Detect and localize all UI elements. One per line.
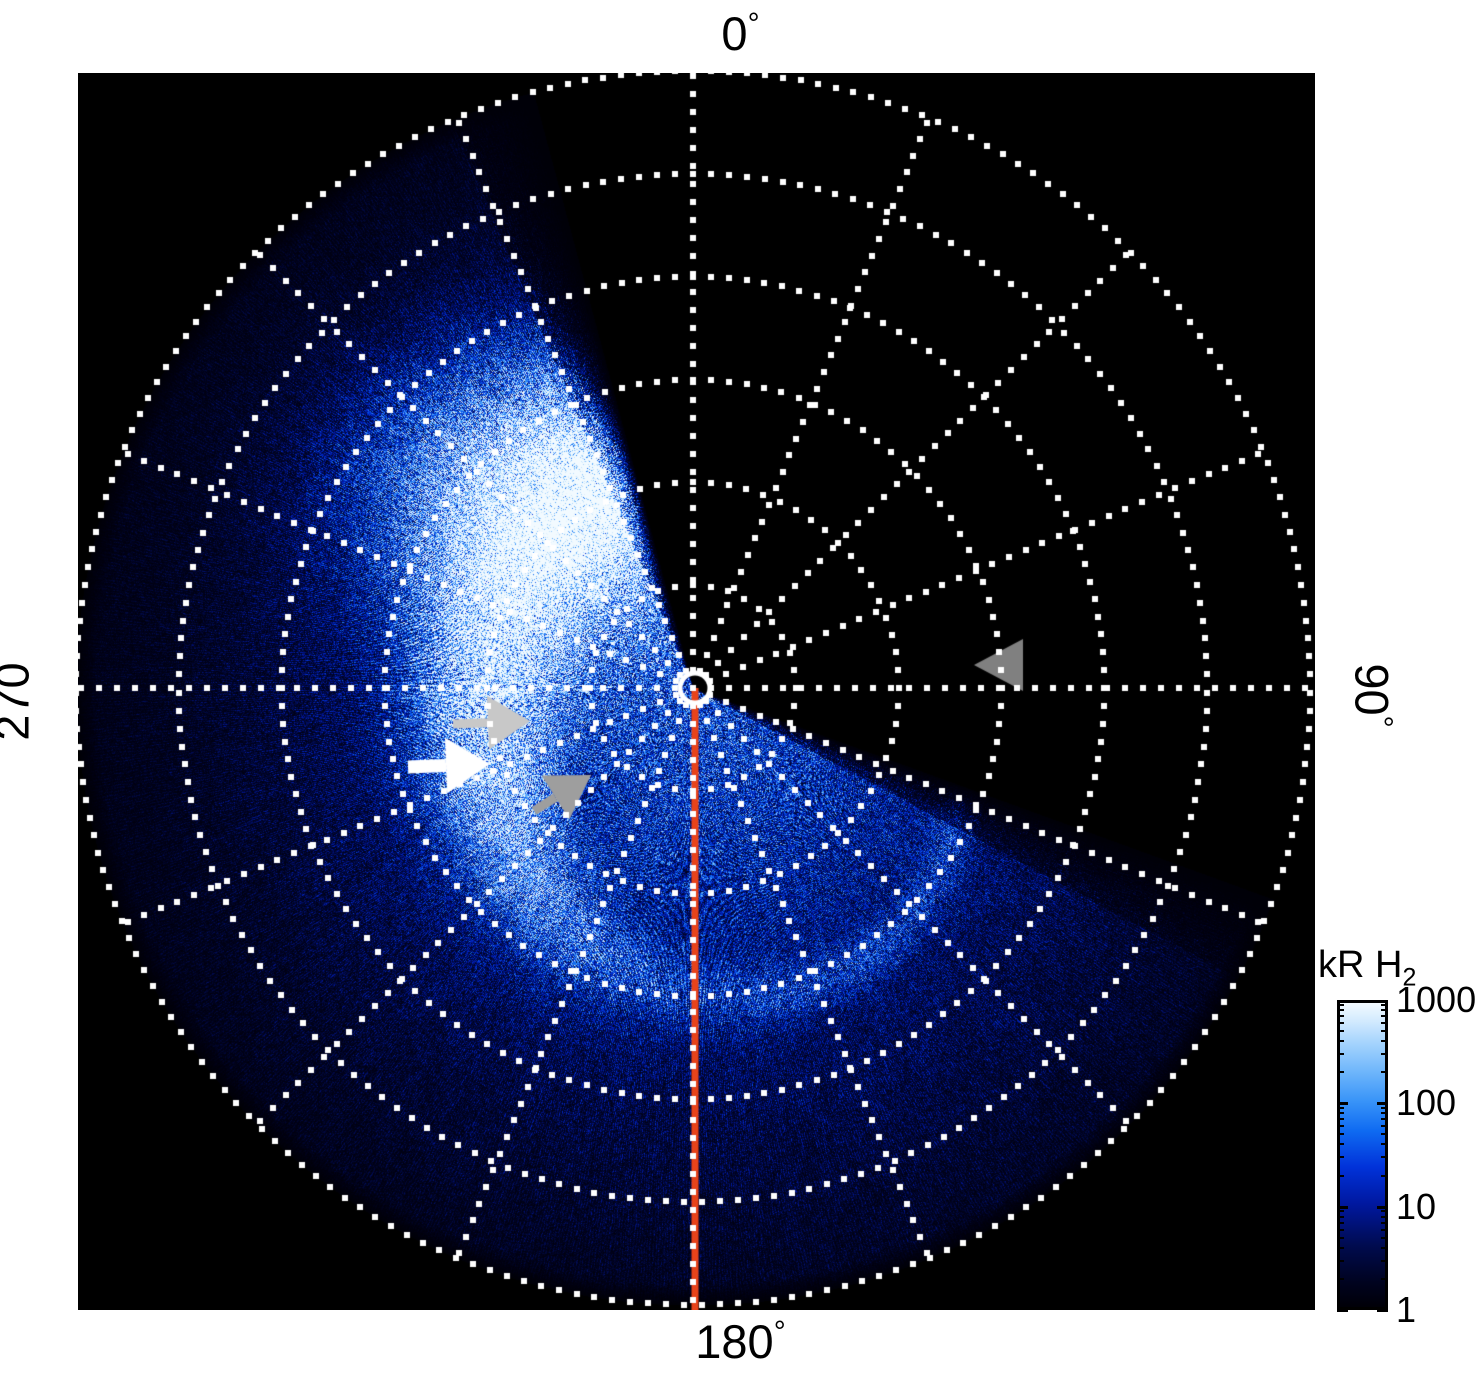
colorbar-tick-right-5: [1381, 1237, 1388, 1239]
polar-grid-overlay: [78, 73, 1315, 1310]
colorbar-tick-left-7: [1337, 1222, 1344, 1224]
colorbar-tick-left-600: [1337, 1022, 1344, 1024]
axis-label-south-value: 180: [695, 1315, 773, 1368]
colorbar-tick-left-4: [1337, 1247, 1344, 1249]
polar-plot-area[interactable]: [78, 73, 1315, 1310]
axis-label-north-value: 0: [721, 7, 747, 60]
colorbar-tick-left-5: [1337, 1237, 1344, 1239]
colorbar-tick-left-3: [1337, 1260, 1344, 1262]
colorbar-tick-right-600: [1381, 1022, 1388, 1024]
colorbar-tick-left-top: [1337, 1000, 1348, 1003]
colorbar-tick-right-30: [1381, 1156, 1388, 1158]
colorbar-tick-right-50: [1381, 1133, 1388, 1135]
colorbar-tick-left-700: [1337, 1015, 1344, 1017]
axis-label-north: 0°: [0, 10, 1481, 57]
colorbar-tick-left-40: [1337, 1143, 1344, 1145]
degree-symbol-east: °: [1365, 716, 1398, 728]
colorbar-tick-left-60: [1337, 1125, 1344, 1127]
colorbar-tick-right-8: [1381, 1216, 1388, 1218]
colorbar-tick-left-1: [1337, 1309, 1348, 1312]
colorbar-tick-left-2: [1337, 1278, 1344, 1280]
colorbar-tick-right-1: [1377, 1309, 1388, 1312]
colorbar-tick-right-700: [1381, 1015, 1388, 1017]
colorbar-tick-left-500: [1337, 1030, 1344, 1032]
colorbar: kR H2 1000100101: [1318, 944, 1478, 1324]
colorbar-tickmarks: [1337, 1000, 1388, 1310]
colorbar-tick-right-80: [1381, 1112, 1388, 1114]
colorbar-tick-left-400: [1337, 1040, 1344, 1042]
colorbar-tick-right-20: [1381, 1175, 1388, 1177]
degree-symbol-west: °: [0, 650, 19, 662]
colorbar-tick-right-900: [1381, 1004, 1388, 1006]
colorbar-tick-right-70: [1381, 1118, 1388, 1120]
colorbar-tick-right-10: [1377, 1206, 1388, 1209]
axis-label-south: 180°: [0, 1318, 1481, 1365]
colorbar-tick-left-100: [1337, 1102, 1348, 1105]
figure-root: 0° 180° 270° 90° kR H2 1000100101: [0, 0, 1481, 1384]
colorbar-tick-right-top: [1377, 1000, 1388, 1003]
colorbar-tick-right-2: [1381, 1278, 1388, 1280]
colorbar-tick-left-900: [1337, 1004, 1344, 1006]
colorbar-tick-right-4: [1381, 1247, 1388, 1249]
colorbar-tick-right-300: [1381, 1053, 1388, 1055]
colorbar-tick-right-60: [1381, 1125, 1388, 1127]
colorbar-tick-left-80: [1337, 1112, 1344, 1114]
colorbar-tick-left-200: [1337, 1071, 1344, 1073]
colorbar-tick-left-30: [1337, 1156, 1344, 1158]
colorbar-tick-left-8: [1337, 1216, 1344, 1218]
degree-symbol-north: °: [748, 7, 760, 40]
colorbar-tick-right-400: [1381, 1040, 1388, 1042]
colorbar-tick-right-40: [1381, 1143, 1388, 1145]
colorbar-tick-right-500: [1381, 1030, 1388, 1032]
colorbar-tick-left-90: [1337, 1107, 1344, 1109]
colorbar-tick-left-50: [1337, 1133, 1344, 1135]
colorbar-tick-left-800: [1337, 1009, 1344, 1011]
colorbar-tick-right-7: [1381, 1222, 1388, 1224]
colorbar-tick-right-800: [1381, 1009, 1388, 1011]
colorbar-tick-left-70: [1337, 1118, 1344, 1120]
colorbar-label-1000: 1000: [1396, 979, 1476, 1021]
colorbar-tick-right-3: [1381, 1260, 1388, 1262]
axis-label-west: 270°: [0, 596, 36, 796]
colorbar-tick-left-6: [1337, 1229, 1344, 1231]
colorbar-tick-right-6: [1381, 1229, 1388, 1231]
degree-symbol-south: °: [774, 1315, 786, 1348]
colorbar-tick-left-300: [1337, 1053, 1344, 1055]
colorbar-label-100: 100: [1396, 1082, 1456, 1124]
axis-label-east: 90°: [1349, 596, 1396, 796]
colorbar-tick-left-20: [1337, 1175, 1344, 1177]
colorbar-label-1: 1: [1396, 1289, 1416, 1331]
colorbar-tick-left-9: [1337, 1210, 1344, 1212]
colorbar-tick-right-90: [1381, 1107, 1388, 1109]
colorbar-tick-right-200: [1381, 1071, 1388, 1073]
colorbar-tick-left-10: [1337, 1206, 1348, 1209]
colorbar-label-10: 10: [1396, 1186, 1436, 1228]
colorbar-title-text: kR H: [1318, 944, 1402, 986]
colorbar-tick-right-100: [1377, 1102, 1388, 1105]
axis-label-east-value: 90: [1346, 663, 1399, 715]
colorbar-tick-right-9: [1381, 1210, 1388, 1212]
axis-label-west-value: 270: [0, 662, 39, 740]
